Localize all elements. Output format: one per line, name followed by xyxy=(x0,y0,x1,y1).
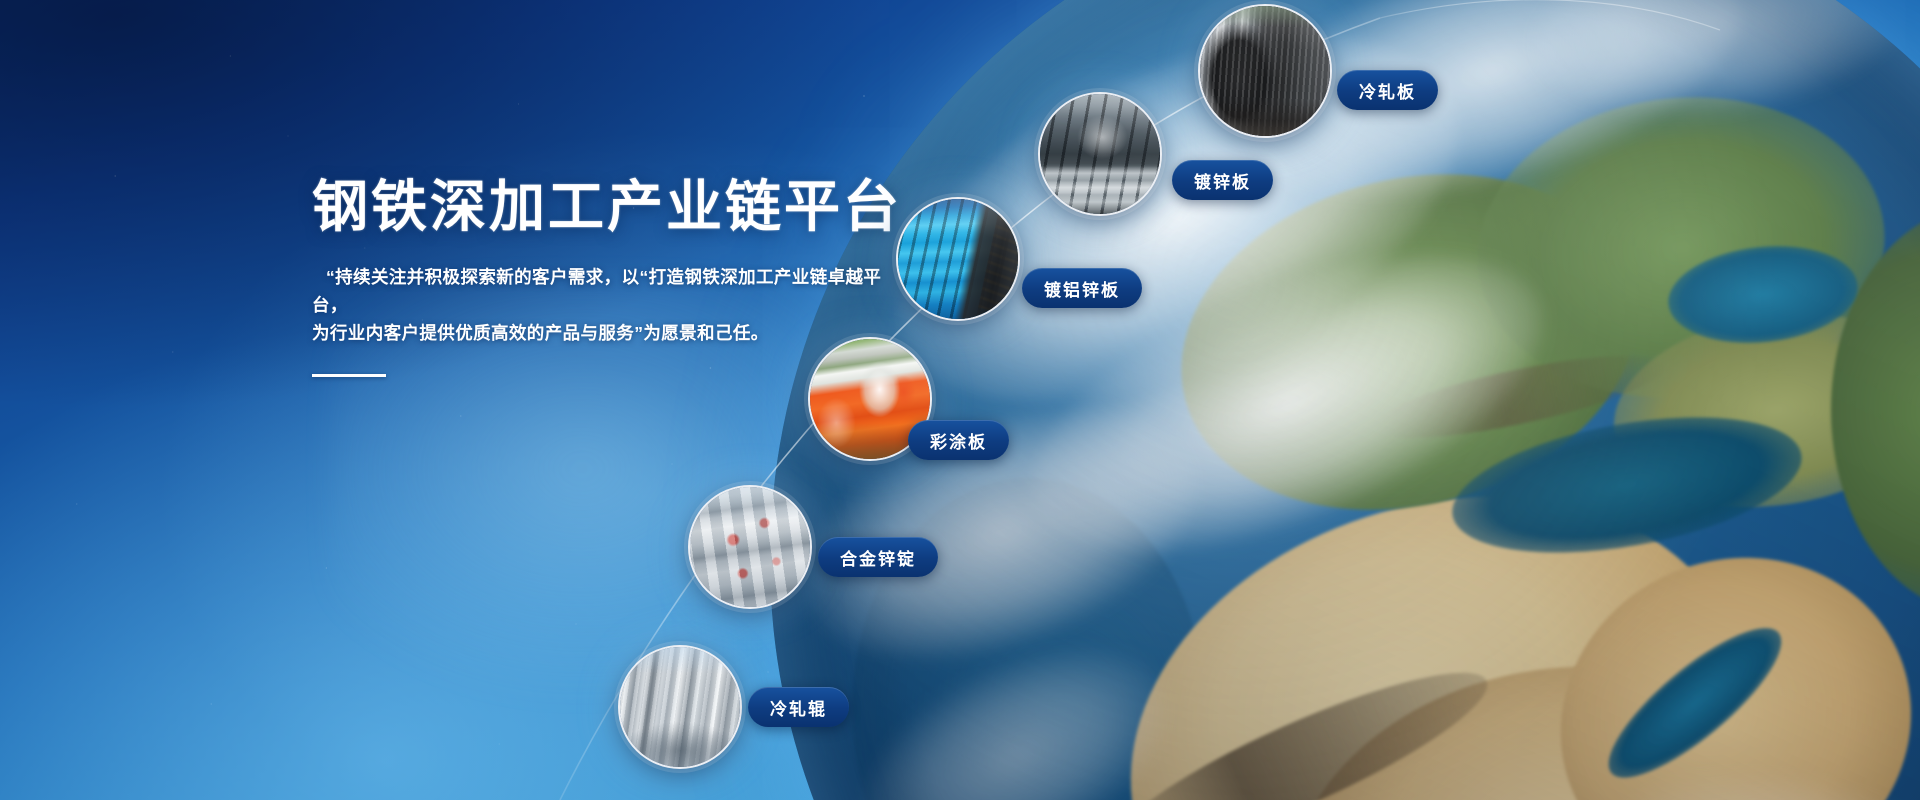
sky-vignette xyxy=(0,0,1920,800)
subtitle-line-2: 为行业内客户提供优质高效的产品与服务”为愿景和己任。 xyxy=(312,319,892,347)
product-label-galvanized-plate[interactable]: 镀锌板 xyxy=(1172,160,1273,200)
product-label-alloy-zinc-ingot[interactable]: 合金锌锭 xyxy=(818,537,938,577)
galvanized-warehouse-photo xyxy=(1040,94,1160,214)
product-bubble-alloy-zinc-ingot[interactable] xyxy=(688,485,812,609)
steel-coils-photo xyxy=(1200,6,1330,136)
hero-banner: 钢铁深加工产业链平台 “持续关注并积极探索新的客户需求，以“打造钢铁深加工产业链… xyxy=(0,0,1920,800)
product-bubble-galvanized-plate[interactable] xyxy=(1038,92,1162,216)
product-label-color-coated-plate[interactable]: 彩涂板 xyxy=(908,420,1009,460)
aluzinc-blue-coil-photo xyxy=(898,199,1018,319)
title-underline-rule xyxy=(312,374,386,377)
banner-subtitle: “持续关注并积极探索新的客户需求，以“打造钢铁深加工产业链卓越平台， 为行业内客… xyxy=(312,263,892,348)
product-bubble-cold-rolled-plate[interactable] xyxy=(1198,4,1332,138)
zinc-ingots-photo xyxy=(690,487,810,607)
product-label-cold-rolled-plate[interactable]: 冷轧板 xyxy=(1337,70,1438,110)
page-title: 钢铁深加工产业链平台 xyxy=(312,176,952,239)
product-label-aluzinc-plate[interactable]: 镀铝锌板 xyxy=(1022,268,1142,308)
polished-rollers-photo xyxy=(620,647,740,767)
product-bubble-cold-rolling-roller[interactable] xyxy=(618,645,742,769)
product-bubble-aluzinc-plate[interactable] xyxy=(896,197,1020,321)
subtitle-line-1: “持续关注并积极探索新的客户需求，以“打造钢铁深加工产业链卓越平台， xyxy=(312,263,892,320)
product-label-cold-rolling-roller[interactable]: 冷轧辊 xyxy=(748,687,849,727)
